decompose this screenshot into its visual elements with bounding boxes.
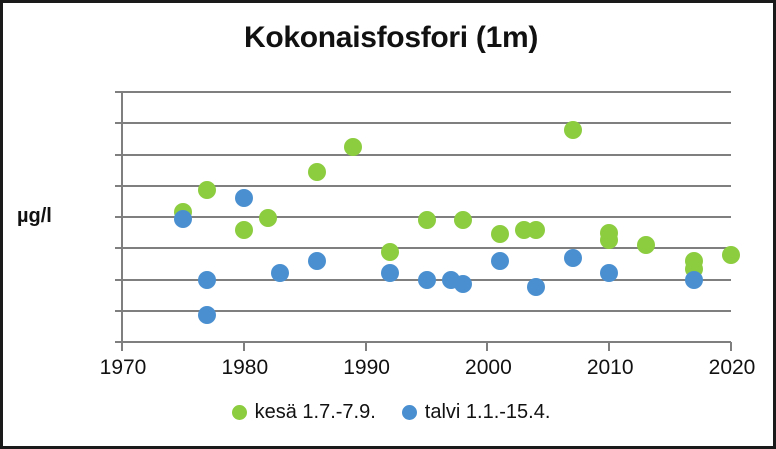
x-axis-tick-label: 1980 — [200, 356, 290, 380]
data-point — [174, 210, 192, 228]
y-axis-tick — [115, 122, 122, 124]
chart-title: Kokonaisfosfori (1m) — [3, 21, 776, 55]
legend-marker-icon — [402, 405, 417, 420]
gridline — [122, 122, 731, 124]
y-axis-tick — [115, 279, 122, 281]
legend-label: talvi 1.1.-15.4. — [425, 401, 551, 424]
data-point — [381, 243, 399, 261]
gridline — [122, 341, 731, 343]
x-axis-tick-label: 2020 — [687, 356, 776, 380]
data-point — [454, 275, 472, 293]
data-point — [235, 189, 253, 207]
x-axis-tick — [730, 342, 732, 351]
x-axis-tick — [121, 342, 123, 351]
x-axis-tick-label: 2010 — [565, 356, 655, 380]
plot-area: 01020304050607080 1970198019902000201020… — [122, 92, 731, 342]
legend-entry[interactable]: kesä 1.7.-7.9. — [232, 401, 376, 424]
y-axis-title: µg/l — [17, 205, 52, 228]
y-axis-tick — [115, 185, 122, 187]
data-point — [491, 252, 509, 270]
chart-container: Kokonaisfosfori (1m) µg/l 01020304050607… — [0, 0, 776, 449]
y-axis-tick — [115, 216, 122, 218]
data-point — [722, 246, 740, 264]
data-point — [527, 221, 545, 239]
data-point — [637, 236, 655, 254]
data-point — [198, 271, 216, 289]
data-point — [198, 306, 216, 324]
data-point — [235, 221, 253, 239]
data-point — [259, 209, 277, 227]
x-axis-tick-label: 1970 — [78, 356, 168, 380]
x-axis-tick — [486, 342, 488, 351]
data-point — [308, 163, 326, 181]
data-point — [344, 138, 362, 156]
x-axis-tick — [243, 342, 245, 351]
y-axis-tick — [115, 154, 122, 156]
gridline — [122, 154, 731, 156]
legend-entry[interactable]: talvi 1.1.-15.4. — [402, 401, 551, 424]
legend-label: kesä 1.7.-7.9. — [255, 401, 376, 424]
data-point — [198, 181, 216, 199]
x-axis-tick — [608, 342, 610, 351]
y-axis-tick — [115, 247, 122, 249]
data-point — [527, 278, 545, 296]
y-axis-tick — [115, 310, 122, 312]
data-point — [418, 271, 436, 289]
data-point — [454, 211, 472, 229]
gridline — [122, 91, 731, 93]
data-point — [685, 271, 703, 289]
x-axis-tick — [365, 342, 367, 351]
legend: kesä 1.7.-7.9.talvi 1.1.-15.4. — [3, 401, 776, 424]
legend-marker-icon — [232, 405, 247, 420]
x-axis-tick-label: 2000 — [443, 356, 533, 380]
x-axis-tick-label: 1990 — [322, 356, 412, 380]
y-axis-tick — [115, 91, 122, 93]
data-point — [564, 249, 582, 267]
data-point — [418, 211, 436, 229]
data-point — [491, 225, 509, 243]
data-point — [308, 252, 326, 270]
data-point — [564, 121, 582, 139]
